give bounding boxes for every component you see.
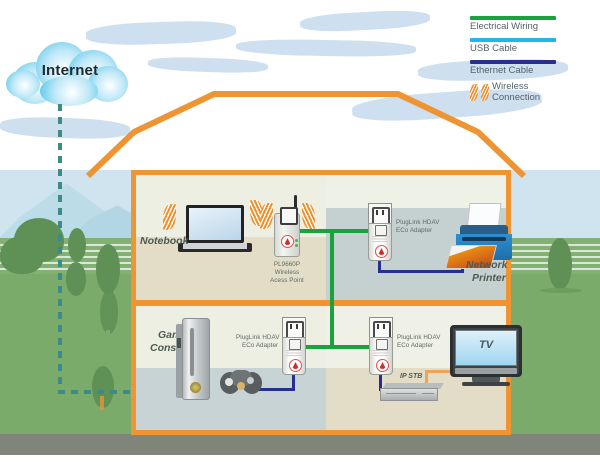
console-disc-slot [190,328,194,376]
tv-label: TV [455,339,517,351]
legend-item-ethernet-cable: Ethernet Cable [470,60,596,76]
console-adapter-caption-line1: PlugLink HDAV [236,334,296,342]
notebook-label: Notebook [140,235,188,247]
tree-trunk [100,396,104,410]
pluglink-adapter-printer [367,203,393,261]
ip-stb-device [380,383,442,401]
stb-front-panel [380,388,438,401]
notebook-device [178,205,252,255]
legend-label-wireless-line2: Connection [492,93,540,104]
console-button[interactable] [177,338,181,348]
tree-trunk [106,330,110,352]
legend-item-usb-cable: USB Cable [470,38,596,54]
wireless-access-point-device [274,205,300,257]
wireless-icon [481,84,489,101]
legend-swatch-usb [470,38,556,42]
electrical-wire-trunk [330,229,334,349]
road-strip [0,434,600,455]
console-power-icon[interactable] [190,382,201,393]
tree-shadow [540,288,582,293]
adapter-plug-icon [376,339,388,350]
tree-icon [36,222,52,252]
tv-speaker-bar [455,368,517,374]
network-diagram-canvas: Internet No [0,0,600,463]
notebook-keyboard [183,243,247,249]
tree-icon [66,262,86,296]
network-printer-device [452,203,514,267]
legend: Electrical Wiring USB Cable Ethernet Cab… [470,16,596,103]
floor-divider [131,300,511,306]
tv-device: TV [450,325,522,387]
legend-label-ethernet: Ethernet Cable [470,65,596,76]
ethernet-cable-printer-h [378,270,464,273]
tree-icon [68,228,86,262]
internet-link-vertical [58,104,62,394]
adapter-vents [286,350,302,357]
electrical-wire-upper [298,229,334,233]
tree-icon [96,244,120,294]
access-point-caption-line3: Acess Point [257,277,317,285]
stb-adapter-caption-line1: PlugLink HDAV [397,334,457,342]
access-point-caption-line1: PL9660P [257,261,317,269]
pluglink-logo-icon [376,359,389,372]
tree-icon [548,238,572,290]
network-printer-label-line2: Printer [472,272,506,284]
access-point-caption-line2: Wireless [257,269,317,277]
wireless-icon [470,84,478,101]
pluglink-logo-icon [375,245,388,258]
pluglink-logo-icon [281,235,294,248]
adapter-vents [373,350,389,357]
tv-foot [462,382,510,386]
pluglink-logo-icon [289,359,302,372]
network-printer-label-line1: Network [466,259,507,271]
road-edge [0,455,600,463]
console-adapter-caption-line2: ECo Adapter [242,342,302,350]
legend-label-usb: USB Cable [470,43,596,54]
game-console-device [176,318,212,400]
legend-swatch-ethernet [470,60,556,64]
adapter-plug-icon [375,225,387,236]
tree-icon [100,290,118,334]
printer-slot [462,237,506,241]
adapter-vents [372,236,388,243]
printer-adapter-caption-line2: ECo Adapter [396,227,456,235]
stb-adapter-caption-line2: ECo Adapter [397,342,457,350]
gamepad-controller [220,370,262,396]
legend-label-wireless-line1: Wireless [492,82,540,93]
ip-stb-label: IP STB [400,373,422,380]
pluglink-adapter-stb [368,317,394,375]
legend-swatch-electrical [470,16,556,20]
roof-outline [86,86,526,178]
legend-label-electrical: Electrical Wiring [470,21,596,32]
printer-adapter-caption-line1: PlugLink HDAV [396,219,456,227]
legend-item-electrical-wiring: Electrical Wiring [470,16,596,32]
notebook-screen [186,205,244,243]
access-point-display [280,207,298,225]
legend-item-wireless-connection: Wireless Connection [470,82,596,103]
internet-label: Internet [22,62,118,79]
